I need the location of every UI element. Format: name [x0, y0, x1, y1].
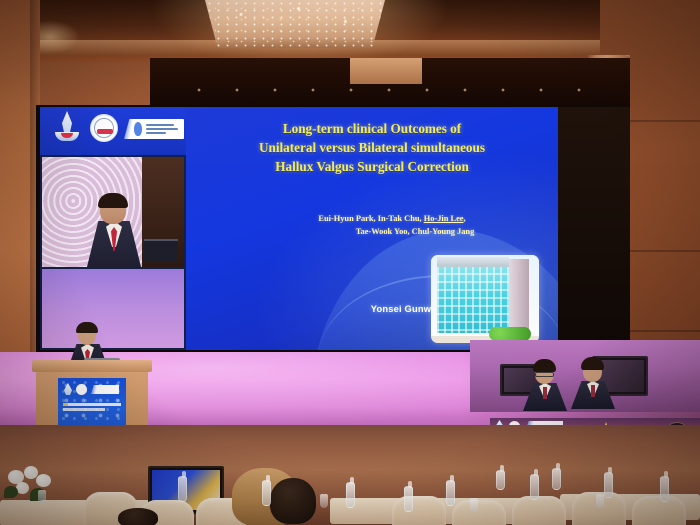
- speaker-camera-feed: [40, 107, 186, 350]
- podium-banner-title-line2: [63, 408, 105, 411]
- conference-hall-scene: Long-term clinical Outcomes of Unilatera…: [0, 0, 700, 525]
- circular-seal-logo: [90, 114, 118, 142]
- presenter-hair: [76, 322, 98, 333]
- authors-line1-pre: Eui-Hyun Park, In-Tak Chu,: [318, 214, 423, 223]
- authors-presenting-author: Ho-Jin Lee: [424, 214, 464, 223]
- moderator-tie: [591, 385, 595, 397]
- feed-logo-strip: [40, 107, 186, 155]
- flower-bloom: [36, 474, 51, 487]
- drinking-glass: [596, 494, 604, 508]
- feed-laptop: [144, 239, 178, 261]
- podium-thai-emblem-logo: [64, 383, 72, 395]
- podium-banner-title-line1: [63, 403, 121, 406]
- water-bottle: [346, 482, 355, 508]
- podium-seal-logo: [76, 384, 87, 395]
- chandelier-sparkle: [205, 0, 385, 48]
- moderator-right: [570, 356, 616, 408]
- water-bottle: [404, 486, 413, 512]
- authors-line1-post: ,: [464, 214, 466, 223]
- podium-banner-logos: [62, 382, 122, 396]
- moderator-left: [522, 358, 568, 410]
- screen-header-valance: [150, 58, 630, 108]
- feed-video-area: [42, 157, 184, 267]
- flower-leaf: [4, 486, 18, 498]
- audience-head: [270, 478, 316, 524]
- water-bottle: [496, 470, 505, 490]
- photo-shrubbery: [489, 327, 531, 341]
- presentation-slide: Long-term clinical Outcomes of Unilatera…: [186, 107, 558, 350]
- water-bottle: [604, 472, 613, 498]
- drinking-glass: [38, 490, 46, 504]
- water-bottle: [530, 474, 539, 500]
- banquet-chair: [512, 496, 566, 525]
- podium-top: [32, 360, 152, 372]
- moderator-hair: [581, 357, 604, 370]
- slide-title-line-1: Long-term clinical Outcomes of: [206, 119, 538, 138]
- water-bottle: [660, 476, 669, 502]
- water-bottle: [262, 480, 271, 506]
- water-bottle: [446, 480, 455, 506]
- flower-arrangement: [4, 466, 62, 506]
- asian-federation-foot-ankle-logo: [124, 119, 184, 139]
- screen-right-dark-area: [558, 107, 630, 350]
- drinking-glass: [470, 498, 478, 512]
- audience-head: [118, 508, 158, 525]
- slide-title: Long-term clinical Outcomes of Unilatera…: [206, 119, 538, 176]
- banquet-chair: [392, 496, 446, 525]
- drinking-glass: [320, 494, 328, 508]
- feed-speaker-hair: [98, 193, 128, 208]
- moderator-hair: [533, 359, 556, 372]
- slide-title-line-2: Unilateral versus Bilateral simultaneous: [206, 138, 538, 157]
- authors-line2: Tae-Wook Yoo, Chul-Young Jang: [246, 225, 538, 238]
- head-table-area: [470, 340, 700, 430]
- podium-federation-logo: [91, 385, 119, 394]
- photo-tower-wing: [507, 259, 529, 333]
- water-bottle: [178, 476, 187, 502]
- slide-authors: Eui-Hyun Park, In-Tak Chu, Ho-Jin Lee, T…: [246, 212, 538, 239]
- slide-title-line-3: Hallux Valgus Surgical Correction: [206, 157, 538, 176]
- crystal-chandelier: [205, 0, 385, 48]
- photo-main-building: [437, 265, 509, 333]
- moderator-tie: [543, 387, 547, 399]
- glasses-icon: [535, 372, 554, 377]
- valance-highlight: [350, 58, 422, 84]
- banquet-chair: [632, 496, 686, 525]
- banquet-chair: [452, 500, 506, 525]
- ceiling-spot-row: [180, 88, 600, 92]
- water-bottle: [552, 468, 561, 490]
- feed-logos: [50, 111, 186, 147]
- thai-royal-emblem-logo: [54, 111, 80, 145]
- hospital-building-photo: [431, 255, 539, 343]
